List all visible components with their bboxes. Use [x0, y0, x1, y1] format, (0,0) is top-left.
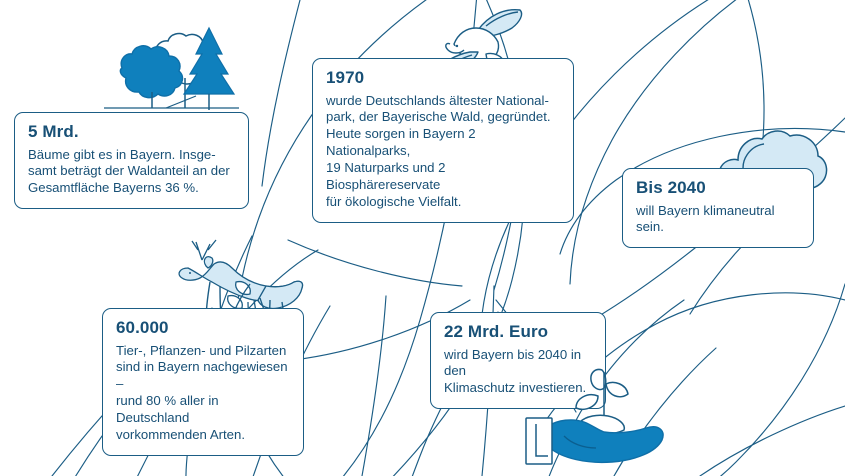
- fact-headline-investition: 22 Mrd. Euro: [444, 322, 592, 342]
- fact-headline-klimaneutral: Bis 2040: [636, 178, 800, 198]
- fact-card-klimaneutral[interactable]: Bis 2040 will Bayern klimaneutral sein.: [622, 168, 814, 248]
- hand-holding-seedling-icon: [524, 362, 674, 474]
- fact-headline-nationalpark: 1970: [326, 68, 560, 88]
- infographic-canvas: 5 Mrd. Bäume gibt es in Bayern. Insge- s…: [0, 0, 845, 476]
- fact-card-trees[interactable]: 5 Mrd. Bäume gibt es in Bayern. Insge- s…: [14, 112, 249, 209]
- fact-body-nationalpark: wurde Deutschlands ältester National- pa…: [326, 93, 560, 211]
- fact-body-klimaneutral: will Bayern klimaneutral sein.: [636, 203, 800, 237]
- trees-icon: [104, 16, 239, 116]
- fact-body-trees: Bäume gibt es in Bayern. Insge- samt bet…: [28, 147, 235, 198]
- fact-card-nationalpark[interactable]: 1970 wurde Deutschlands ältester Nationa…: [312, 58, 574, 223]
- fact-card-arten[interactable]: 60.000 Tier-, Pflanzen- und Pilzarten si…: [102, 308, 304, 456]
- fact-body-arten: Tier-, Pflanzen- und Pilzarten sind in B…: [116, 343, 290, 444]
- fact-headline-arten: 60.000: [116, 318, 290, 338]
- fact-headline-trees: 5 Mrd.: [28, 122, 235, 142]
